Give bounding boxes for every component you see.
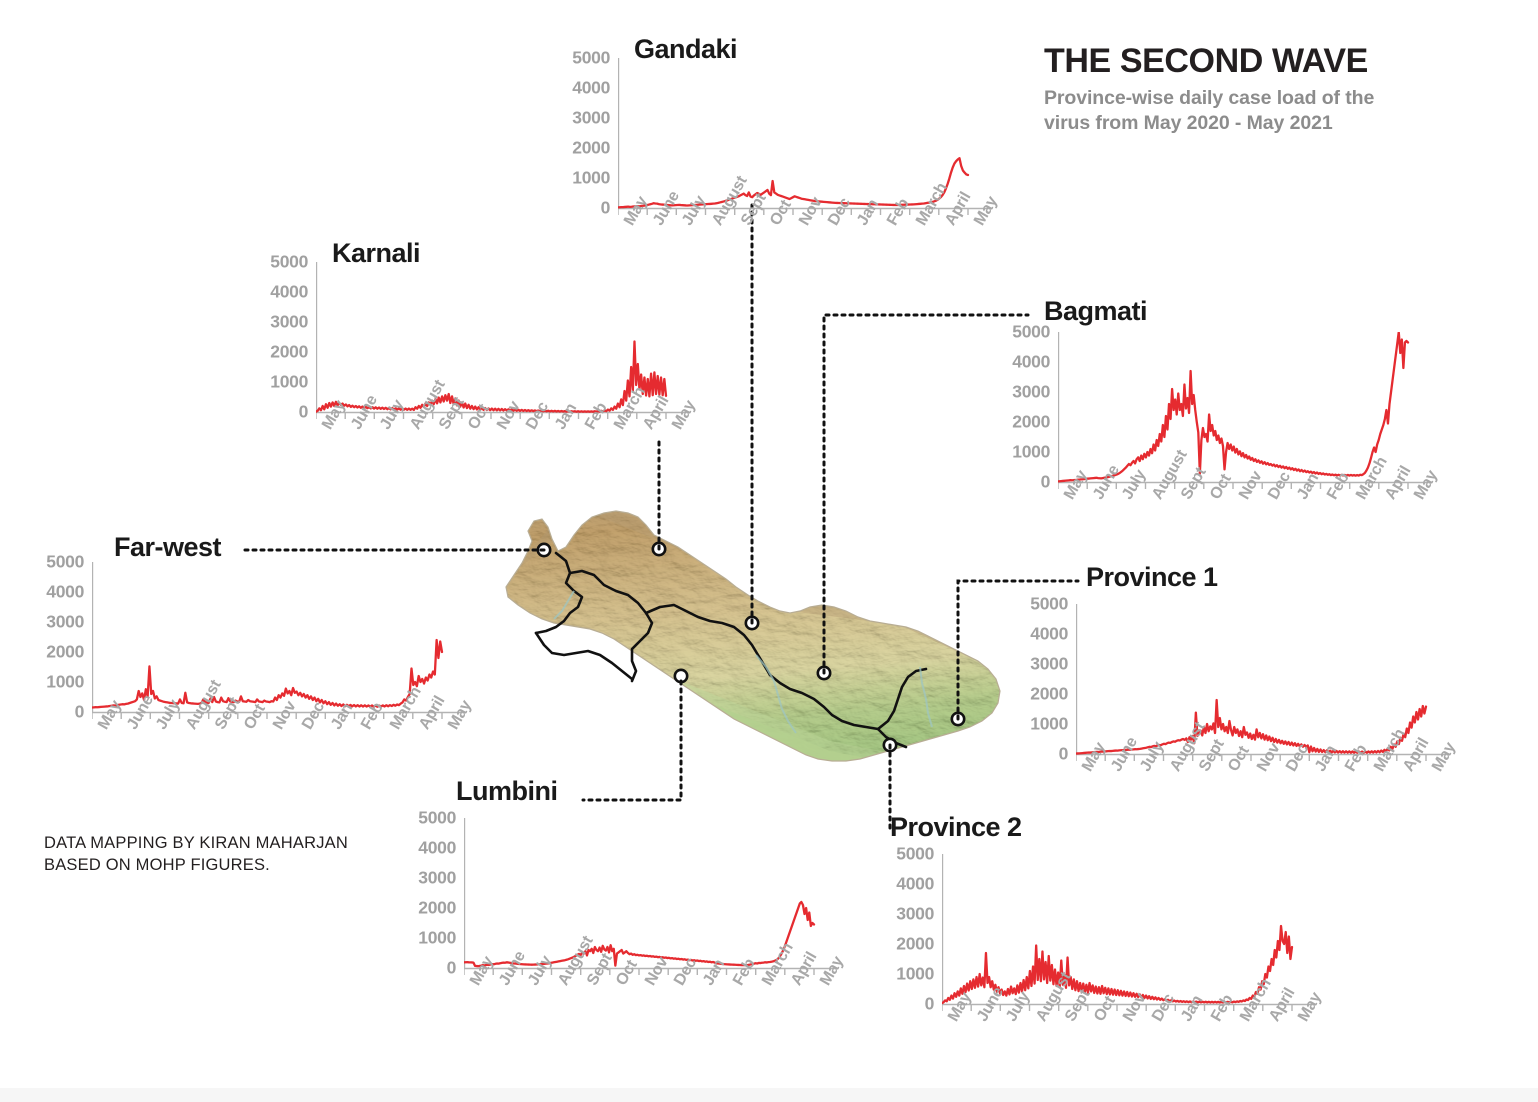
- y-tick-label: 4000: [46, 582, 84, 603]
- y-tick-label: 4000: [1030, 624, 1068, 645]
- y-axis-line: [464, 818, 465, 968]
- y-axis-line: [618, 58, 619, 208]
- y-tick-label: 0: [1059, 744, 1068, 765]
- y-tick-label: 3000: [572, 108, 610, 129]
- y-tick-label: 3000: [1030, 654, 1068, 675]
- x-axis-labels-bagmati: MayJuneJulyAugustSeptOctNovDecJanFebMarc…: [1058, 494, 1434, 564]
- chart-province-2: Province 2500040003000200010000MayJuneJu…: [884, 812, 1324, 1072]
- y-tick-label: 2000: [270, 342, 308, 363]
- marker-province-2[interactable]: [884, 739, 896, 751]
- infographic-canvas: THE SECOND WAVE Province-wise daily case…: [0, 0, 1538, 1102]
- y-axis-line: [92, 562, 93, 712]
- y-tick-label: 1000: [572, 168, 610, 189]
- chart-karnali: Karnali500040003000200010000MayJuneJulyA…: [258, 238, 698, 468]
- y-axis-line: [1058, 332, 1059, 482]
- y-tick-label: 5000: [572, 48, 610, 69]
- chart-bagmati: Bagmati500040003000200010000MayJuneJulyA…: [1000, 296, 1450, 546]
- y-axis-labels-bagmati: 500040003000200010000: [1000, 332, 1050, 482]
- y-tick-label: 2000: [1030, 684, 1068, 705]
- chart-title-province-1: Province 1: [1086, 562, 1218, 593]
- plot-area-far-west: 500040003000200010000MayJuneJulyAugustSe…: [34, 562, 462, 782]
- y-tick-label: 1000: [1030, 714, 1068, 735]
- y-tick-label: 5000: [418, 808, 456, 829]
- y-tick-label: 5000: [270, 252, 308, 273]
- plot-area-lumbini: 500040003000200010000MayJuneJulyAugustSe…: [406, 818, 834, 1038]
- y-tick-label: 4000: [270, 282, 308, 303]
- marker-karnali[interactable]: [653, 543, 665, 555]
- map-svg: [470, 455, 1030, 785]
- chart-title-far-west: Far-west: [114, 532, 221, 563]
- y-tick-label: 0: [299, 402, 308, 423]
- marker-province-1[interactable]: [952, 713, 964, 725]
- y-tick-label: 2000: [896, 934, 934, 955]
- page-title: THE SECOND WAVE: [1044, 44, 1464, 79]
- y-tick-label: 3000: [418, 868, 456, 889]
- y-tick-label: 2000: [46, 642, 84, 663]
- plot-area-karnali: 500040003000200010000MayJuneJulyAugustSe…: [258, 262, 686, 482]
- y-tick-label: 3000: [1012, 382, 1050, 403]
- marker-far-west[interactable]: [538, 544, 550, 556]
- y-tick-label: 4000: [418, 838, 456, 859]
- data-series-line: [1058, 332, 1408, 481]
- y-tick-label: 2000: [418, 898, 456, 919]
- y-tick-label: 5000: [1030, 594, 1068, 615]
- y-tick-label: 0: [447, 958, 456, 979]
- x-axis-labels-lumbini: MayJuneJulyAugustSeptOctNovDecJanFebMarc…: [464, 980, 840, 1050]
- y-axis-line: [942, 854, 943, 1004]
- y-axis-labels-karnali: 500040003000200010000: [258, 262, 308, 412]
- y-tick-label: 2000: [1012, 412, 1050, 433]
- chart-title-province-2: Province 2: [890, 812, 1022, 843]
- y-tick-label: 1000: [418, 928, 456, 949]
- marker-bagmati[interactable]: [818, 667, 830, 679]
- y-axis-labels-lumbini: 500040003000200010000: [406, 818, 456, 968]
- page-subtitle-line2: virus from May 2020 - May 2021: [1044, 111, 1464, 136]
- y-tick-label: 2000: [572, 138, 610, 159]
- y-tick-label: 1000: [270, 372, 308, 393]
- chart-far-west: Far-west500040003000200010000MayJuneJuly…: [34, 532, 474, 782]
- marker-gandaki[interactable]: [746, 617, 758, 629]
- nepal-relief-map: [470, 455, 1030, 785]
- y-tick-label: 5000: [46, 552, 84, 573]
- y-tick-label: 1000: [46, 672, 84, 693]
- credit-line-2: BASED ON MOHP FIGURES.: [44, 855, 374, 877]
- y-tick-label: 1000: [896, 964, 934, 985]
- page-subtitle: Province-wise daily case load of the vir…: [1044, 86, 1464, 135]
- y-tick-label: 4000: [572, 78, 610, 99]
- chart-lumbini: Lumbini500040003000200010000MayJuneJulyA…: [406, 776, 846, 1036]
- chart-gandaki: Gandaki500040003000200010000MayJuneJulyA…: [560, 34, 990, 249]
- y-axis-labels-far-west: 500040003000200010000: [34, 562, 84, 712]
- bottom-strip: [0, 1088, 1538, 1102]
- y-axis-labels-province-1: 500040003000200010000: [1018, 604, 1068, 754]
- y-axis-line: [316, 262, 317, 412]
- y-tick-label: 5000: [896, 844, 934, 865]
- y-tick-label: 4000: [1012, 352, 1050, 373]
- y-tick-label: 0: [75, 702, 84, 723]
- y-axis-labels-province-2: 500040003000200010000: [884, 854, 934, 1004]
- y-tick-label: 0: [1041, 472, 1050, 493]
- y-tick-label: 3000: [270, 312, 308, 333]
- headline-block: THE SECOND WAVE Province-wise daily case…: [1044, 44, 1464, 135]
- marker-lumbini[interactable]: [675, 670, 687, 682]
- page-subtitle-line1: Province-wise daily case load of the: [1044, 86, 1464, 111]
- credit-line-1: DATA MAPPING BY KIRAN MAHARJAN: [44, 833, 374, 855]
- x-axis-labels-province-2: MayJuneJulyAugustSeptOctNovDecJanFebMarc…: [942, 1016, 1318, 1086]
- y-tick-label: 0: [925, 994, 934, 1015]
- credit-block: DATA MAPPING BY KIRAN MAHARJAN BASED ON …: [44, 833, 374, 877]
- y-axis-line: [1076, 604, 1077, 754]
- plot-area-bagmati: 500040003000200010000MayJuneJulyAugustSe…: [1000, 332, 1428, 552]
- chart-title-bagmati: Bagmati: [1044, 296, 1147, 327]
- x-axis-labels-karnali: MayJuneJulyAugustSeptOctNovDecJanFebMarc…: [316, 424, 692, 494]
- chart-title-lumbini: Lumbini: [456, 776, 557, 807]
- y-axis-labels-gandaki: 500040003000200010000: [560, 58, 610, 208]
- y-tick-label: 4000: [896, 874, 934, 895]
- plot-area-province-1: 500040003000200010000MayJuneJulyAugustSe…: [1018, 604, 1446, 824]
- plot-area-province-2: 500040003000200010000MayJuneJulyAugustSe…: [884, 854, 1312, 1074]
- chart-province-1: Province 1500040003000200010000MayJuneJu…: [1018, 562, 1478, 822]
- y-tick-label: 5000: [1012, 322, 1050, 343]
- y-tick-label: 3000: [896, 904, 934, 925]
- y-tick-label: 1000: [1012, 442, 1050, 463]
- y-tick-label: 0: [601, 198, 610, 219]
- y-tick-label: 3000: [46, 612, 84, 633]
